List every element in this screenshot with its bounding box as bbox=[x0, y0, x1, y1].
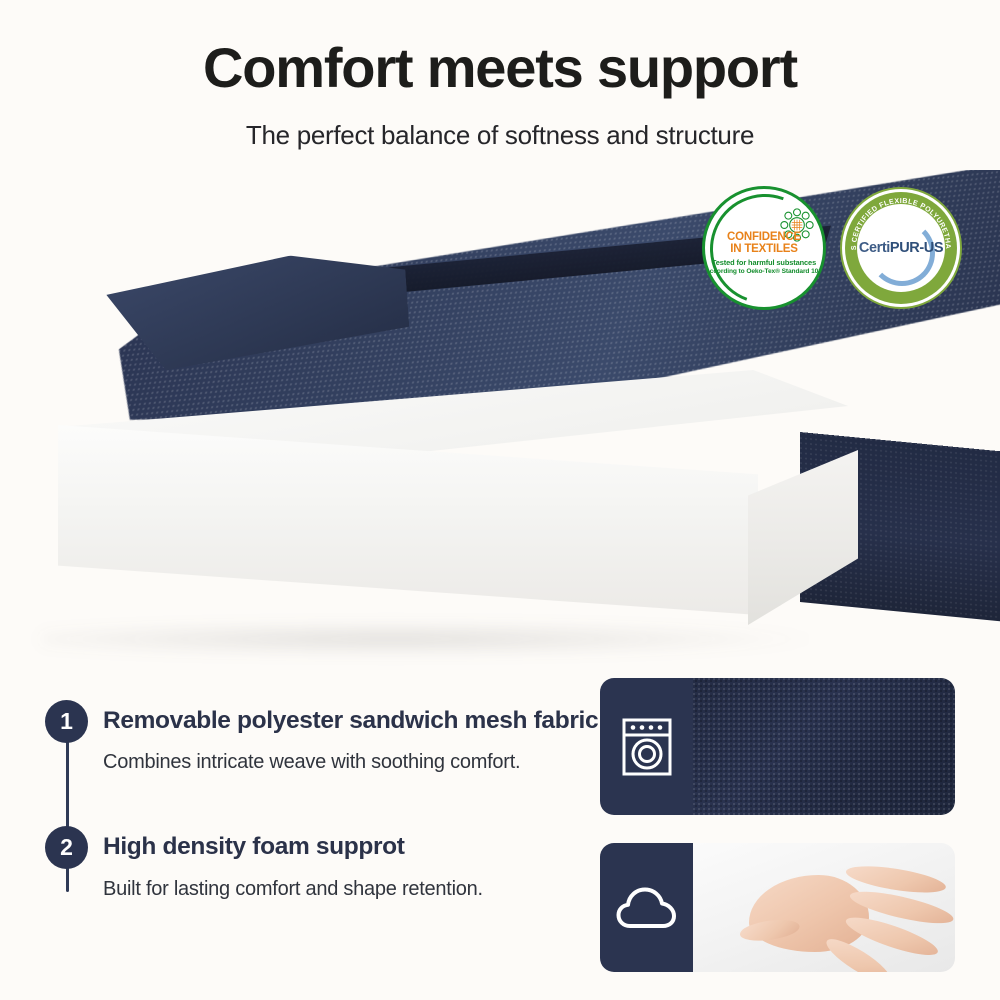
oeko-tex-badge: CONFIDENCE IN TEXTILES Tested for harmfu… bbox=[702, 186, 826, 310]
feature-list: 1 Removable polyester sandwich mesh fabr… bbox=[45, 700, 565, 953]
feature-item-1: 1 Removable polyester sandwich mesh fabr… bbox=[45, 700, 565, 774]
page-subtitle: The perfect balance of softness and stru… bbox=[0, 120, 1000, 151]
card-icon-panel-mesh bbox=[600, 678, 693, 815]
certipur-us-badge: CONTAINS CERTIFIED FLEXIBLE POLYURETHANE… bbox=[840, 187, 962, 309]
product-infographic: Comfort meets support The perfect balanc… bbox=[0, 0, 1000, 1000]
feature-title-1: Removable polyester sandwich mesh fabric bbox=[103, 700, 565, 735]
card-icon-panel-foam bbox=[600, 843, 693, 972]
foam-right-face bbox=[748, 450, 858, 625]
feature-number-badge-1: 1 bbox=[45, 700, 88, 743]
feature-number-badge-2: 2 bbox=[45, 826, 88, 869]
feature-desc-1: Combines intricate weave with soothing c… bbox=[103, 751, 565, 774]
certipur-ring-text-bottom: WWW.CERTIPUR.US bbox=[867, 273, 935, 293]
oeko-tex-title-line2: IN TEXTILES bbox=[727, 243, 801, 255]
feature-text-2: High density foam supprot Built for last… bbox=[103, 826, 565, 900]
product-drop-shadow bbox=[40, 622, 820, 656]
foam-hand-photo bbox=[693, 843, 955, 972]
foam-front-face bbox=[58, 425, 758, 615]
oeko-tex-title-line1: CONFIDENCE bbox=[727, 231, 801, 243]
hand-illustration bbox=[735, 848, 955, 972]
certipur-ring-text-top: CONTAINS CERTIFIED FLEXIBLE POLYURETHANE… bbox=[842, 189, 952, 250]
svg-text:WWW.CERTIPUR.US: WWW.CERTIPUR.US bbox=[867, 273, 935, 293]
certipur-ring-text: CONTAINS CERTIFIED FLEXIBLE POLYURETHANE… bbox=[842, 189, 960, 307]
certification-badges: CONFIDENCE IN TEXTILES Tested for harmfu… bbox=[702, 186, 962, 310]
cloud-icon bbox=[616, 885, 678, 931]
card-soft-foam bbox=[600, 843, 955, 972]
card-washable-mesh bbox=[600, 678, 955, 815]
oeko-tex-title: CONFIDENCE IN TEXTILES bbox=[727, 231, 801, 256]
hand-palm bbox=[749, 875, 869, 952]
feature-desc-2: Built for lasting comfort and shape rete… bbox=[103, 878, 565, 901]
page-title: Comfort meets support bbox=[0, 38, 1000, 98]
feature-text-1: Removable polyester sandwich mesh fabric… bbox=[103, 700, 565, 774]
feature-title-2: High density foam supprot bbox=[103, 826, 565, 861]
washing-machine-icon bbox=[621, 717, 673, 777]
mesh-fabric-photo bbox=[693, 678, 955, 815]
feature-item-2: 2 High density foam supprot Built for la… bbox=[45, 826, 565, 900]
svg-text:CONTAINS CERTIFIED FLEXIBLE PO: CONTAINS CERTIFIED FLEXIBLE POLYURETHANE… bbox=[842, 189, 952, 250]
